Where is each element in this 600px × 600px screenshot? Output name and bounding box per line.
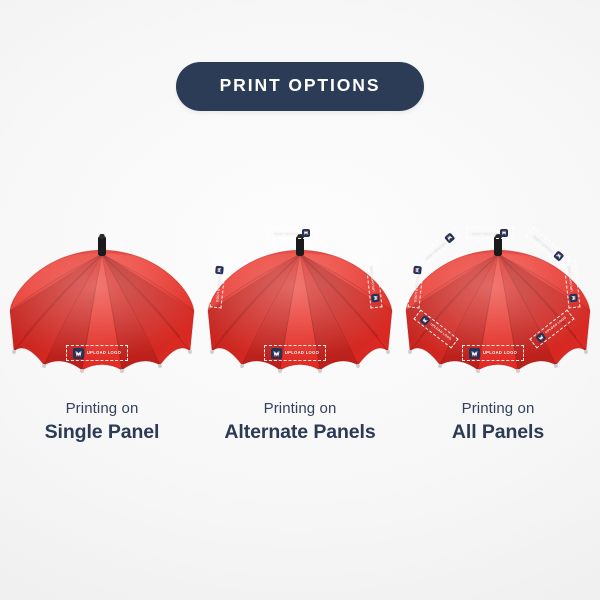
upload-logo-label: UPLOAD LOGO: [215, 276, 221, 302]
umbrella-preview-all-panels: UPLOAD LOGOUPLOAD LOGOUPLOAD LOGOUPLOAD …: [400, 215, 596, 395]
brand-logo-icon: [469, 348, 480, 359]
upload-logo-slot[interactable]: UPLOAD LOGO: [466, 227, 514, 239]
umbrella-preview-single-panel: UPLOAD LOGO: [4, 215, 200, 395]
upload-logo-slot[interactable]: UPLOAD LOGO: [66, 345, 128, 361]
upload-logo-label: UPLOAD LOGO: [472, 231, 498, 234]
upload-logo-label: UPLOAD LOGO: [569, 266, 575, 292]
brand-logo-icon: [444, 232, 455, 243]
upload-logo-slot[interactable]: UPLOAD LOGO: [268, 227, 316, 239]
print-options-row: UPLOAD LOGOPrinting onSingle Panel: [0, 215, 600, 480]
upload-logo-label: UPLOAD LOGO: [285, 351, 319, 355]
brand-logo-icon: [215, 265, 224, 274]
brand-logo-icon: [73, 348, 84, 359]
umbrella-preview-alternate-panels: UPLOAD LOGOUPLOAD LOGOUPLOAD LOGOUPLOAD …: [202, 215, 398, 395]
upload-logo-slot[interactable]: UPLOAD LOGO: [264, 345, 326, 361]
brand-logo-icon: [500, 229, 508, 237]
print-option-alternate-panels[interactable]: UPLOAD LOGOUPLOAD LOGOUPLOAD LOGOUPLOAD …: [202, 215, 398, 480]
brand-logo-icon: [535, 332, 546, 343]
brand-logo-icon: [302, 229, 310, 237]
upload-logo-label: UPLOAD LOGO: [87, 351, 121, 355]
option-caption-top: Printing on: [452, 399, 544, 419]
brand-logo-icon: [371, 294, 380, 303]
option-caption-bold: Single Panel: [45, 419, 160, 445]
brand-logo-icon: [569, 294, 578, 303]
option-caption-top: Printing on: [224, 399, 375, 419]
print-option-all-panels[interactable]: UPLOAD LOGOUPLOAD LOGOUPLOAD LOGOUPLOAD …: [400, 215, 596, 480]
upload-logo-slot[interactable]: UPLOAD LOGO: [462, 345, 524, 361]
brand-logo-icon: [553, 251, 564, 262]
header: PRINT OPTIONS: [0, 0, 600, 170]
option-caption-bold: All Panels: [452, 419, 544, 445]
option-caption: Printing onSingle Panel: [45, 399, 160, 446]
upload-logo-label: UPLOAD LOGO: [483, 351, 517, 355]
option-caption: Printing onAlternate Panels: [224, 399, 375, 446]
upload-logo-label: UPLOAD LOGO: [413, 276, 419, 302]
brand-logo-icon: [271, 348, 282, 359]
option-caption-top: Printing on: [45, 399, 160, 419]
option-caption-bold: Alternate Panels: [224, 419, 375, 445]
print-option-single-panel[interactable]: UPLOAD LOGOPrinting onSingle Panel: [4, 215, 200, 480]
brand-logo-icon: [413, 265, 422, 274]
upload-logo-label: UPLOAD LOGO: [274, 231, 300, 234]
option-caption: Printing onAll Panels: [452, 399, 544, 446]
print-options-badge: PRINT OPTIONS: [176, 62, 425, 111]
upload-logo-label: UPLOAD LOGO: [371, 266, 377, 292]
brand-logo-icon: [419, 315, 430, 326]
